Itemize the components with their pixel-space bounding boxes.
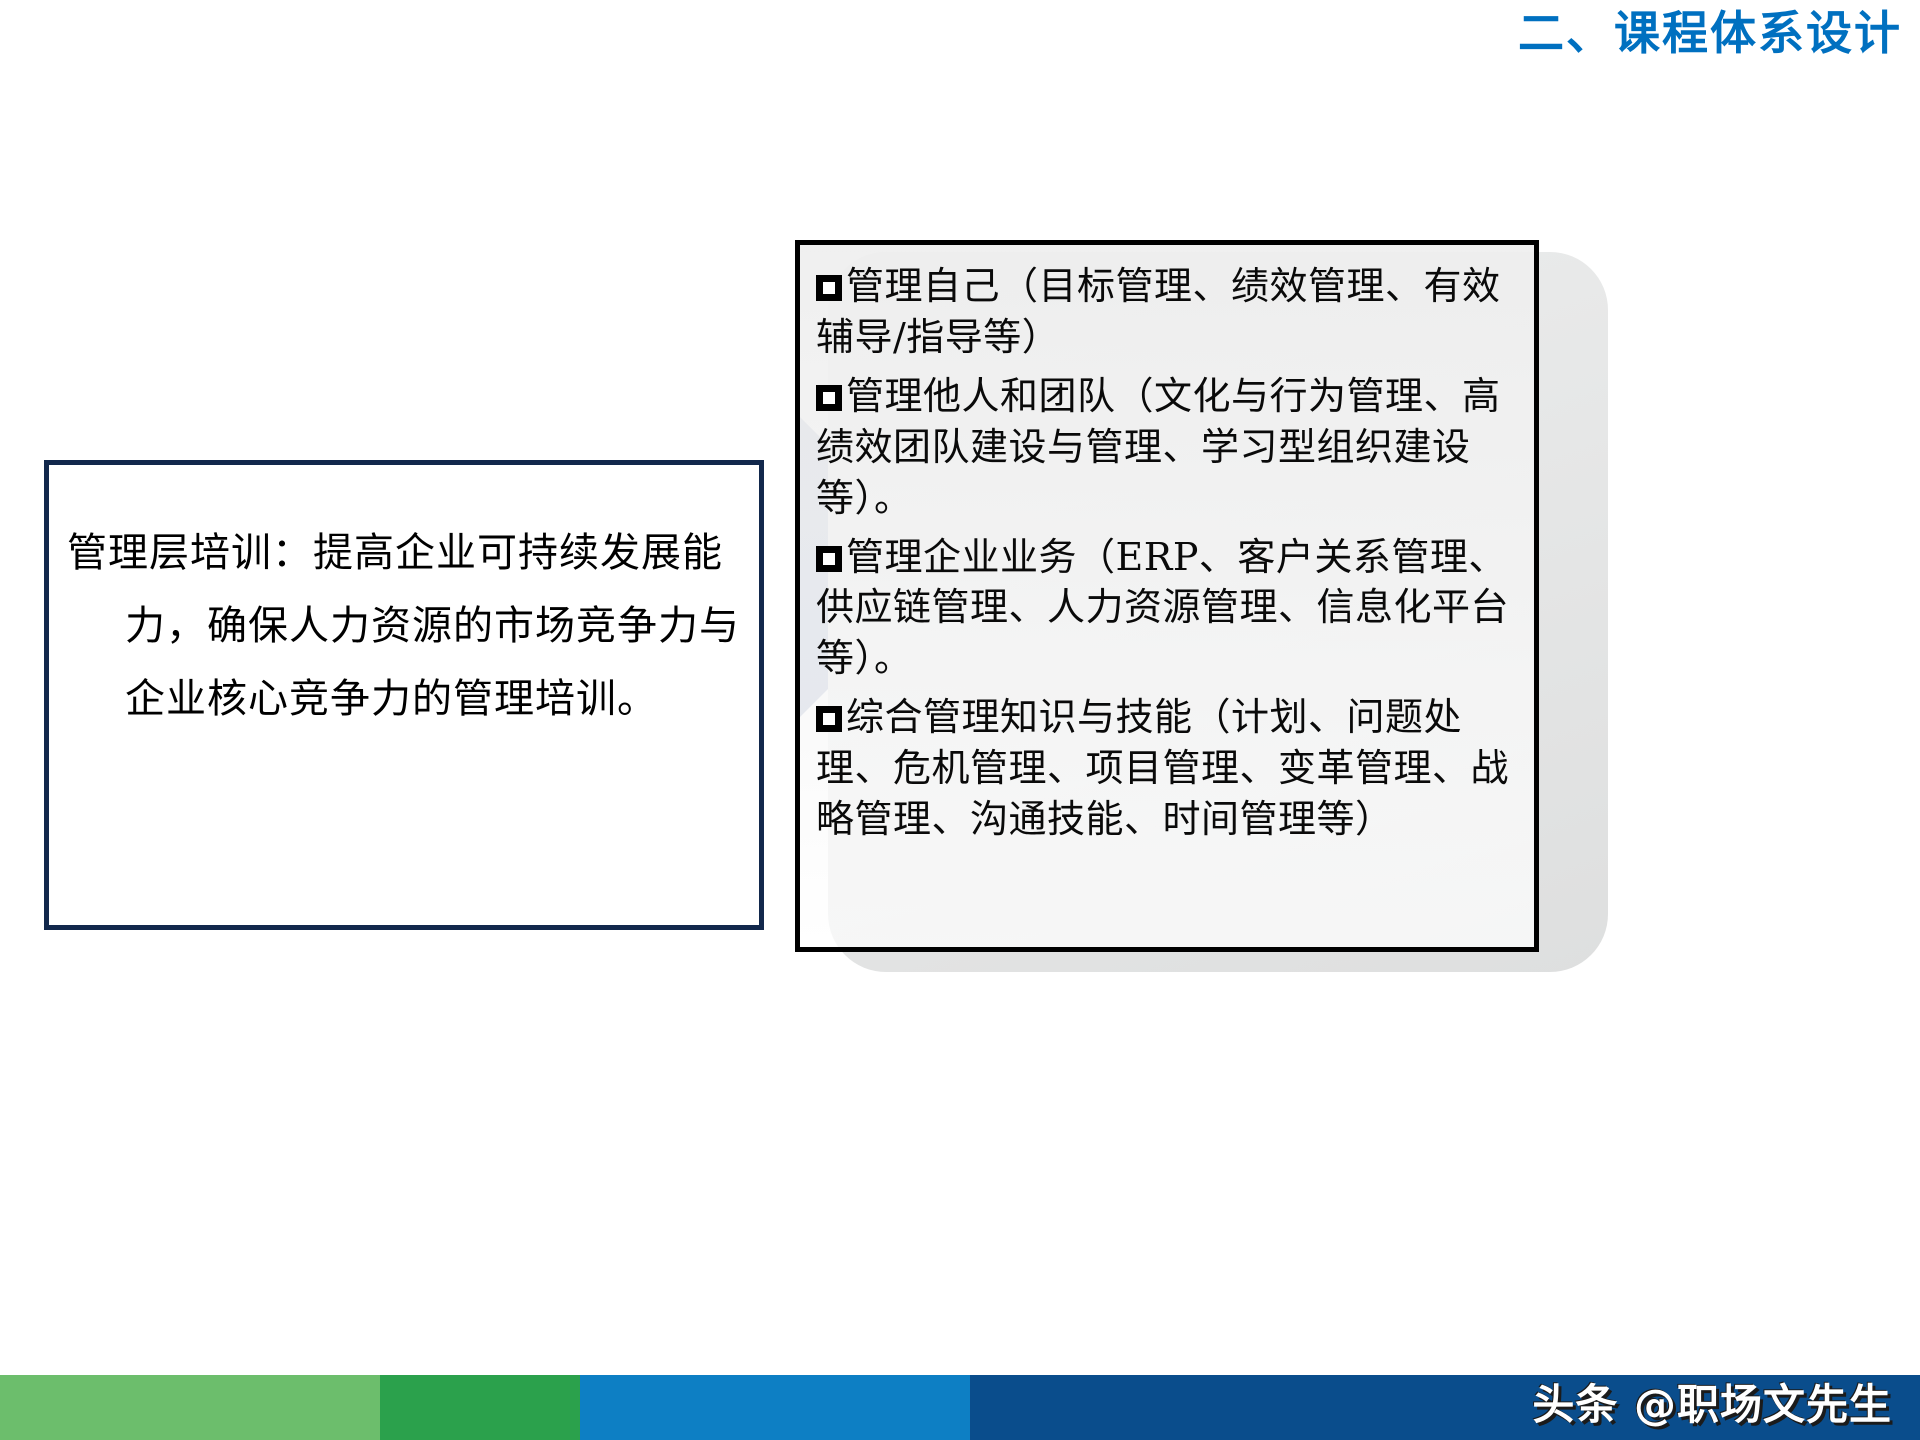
- slide-header: 二、课程体系设计: [702, 8, 1902, 59]
- page-title: 二、课程体系设计: [702, 8, 1902, 59]
- footer-bar-medium-blue: [580, 1375, 970, 1440]
- footer-bar-dark-green: [380, 1375, 580, 1440]
- left-summary-text: 管理层培训：提高企业可持续发展能力，确保人力资源的市场竞争力与企业核心竞争力的管…: [67, 517, 747, 735]
- footer-bar-light-green: [0, 1375, 380, 1440]
- list-item: 管理企业业务（ERP、客户关系管理、供应链管理、人力资源管理、信息化平台等）。: [816, 532, 1518, 685]
- list-item: 综合管理知识与技能（计划、问题处理、危机管理、项目管理、变革管理、战略管理、沟通…: [816, 692, 1518, 845]
- checkbox-square-icon: [816, 275, 842, 301]
- watermark-label: 头条 @职场文先生: [1532, 1371, 1892, 1432]
- checkbox-square-icon: [816, 706, 842, 732]
- list-item-label: 管理企业业务（ERP、客户关系管理、供应链管理、人力资源管理、信息化平台等）。: [816, 535, 1509, 681]
- left-summary-box: 管理层培训：提高企业可持续发展能力，确保人力资源的市场竞争力与企业核心竞争力的管…: [44, 460, 764, 930]
- list-item: 管理他人和团队（文化与行为管理、高绩效团队建设与管理、学习型组织建设等）。: [816, 371, 1518, 524]
- list-item: 管理自己（目标管理、绩效管理、有效辅导/指导等）: [816, 261, 1518, 363]
- right-detail-box: 管理自己（目标管理、绩效管理、有效辅导/指导等） 管理他人和团队（文化与行为管理…: [795, 240, 1539, 952]
- checkbox-square-icon: [816, 546, 842, 572]
- list-item-label: 管理自己（目标管理、绩效管理、有效辅导/指导等）: [816, 264, 1501, 359]
- list-item-label: 管理他人和团队（文化与行为管理、高绩效团队建设与管理、学习型组织建设等）。: [816, 374, 1501, 520]
- checkbox-square-icon: [816, 385, 842, 411]
- list-item-label: 综合管理知识与技能（计划、问题处理、危机管理、项目管理、变革管理、战略管理、沟通…: [816, 695, 1509, 841]
